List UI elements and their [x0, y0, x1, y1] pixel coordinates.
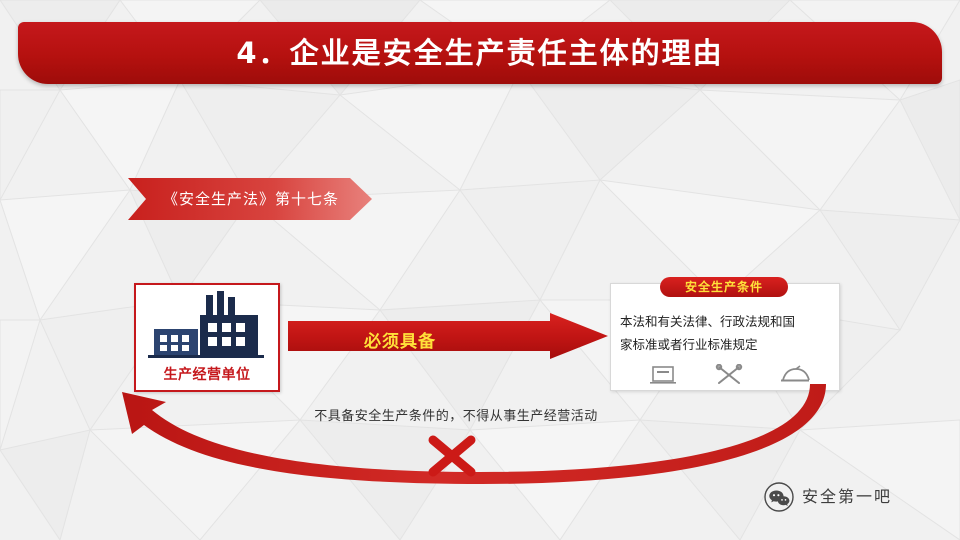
x-cross-icon	[424, 432, 480, 480]
curved-left-arrow-icon	[110, 380, 850, 490]
wechat-account: 安全第一吧	[764, 482, 936, 512]
status-badge: 安全生产条件	[660, 277, 788, 297]
return-arrow	[110, 380, 850, 490]
title-banner: 4．企业是安全生产责任主体的理由	[18, 22, 942, 84]
return-note-text: 不具备安全生产条件的，不得从事生产经营活动	[296, 405, 616, 424]
condition-text: 本法和有关法律、行政法规和国 家标准或者行业标准规定	[620, 310, 832, 356]
factory-card: 生产经营单位	[134, 283, 280, 392]
law-reference-chevron: 《安全生产法》第十七条	[128, 178, 372, 220]
condition-text-line2: 家标准或者行业标准规定	[620, 333, 832, 356]
condition-text-line1: 本法和有关法律、行政法规和国	[620, 310, 832, 333]
wechat-icon	[764, 482, 794, 512]
must-have-label: 必须具备	[300, 327, 500, 352]
page-title: 4．企业是安全生产责任主体的理由	[18, 33, 942, 73]
wechat-account-name: 安全第一吧	[802, 485, 892, 509]
law-reference-text: 《安全生产法》第十七条	[146, 188, 356, 210]
factory-icon	[144, 289, 270, 365]
slide-root: 4．企业是安全生产责任主体的理由 《安全生产法》第十七条	[0, 0, 960, 540]
